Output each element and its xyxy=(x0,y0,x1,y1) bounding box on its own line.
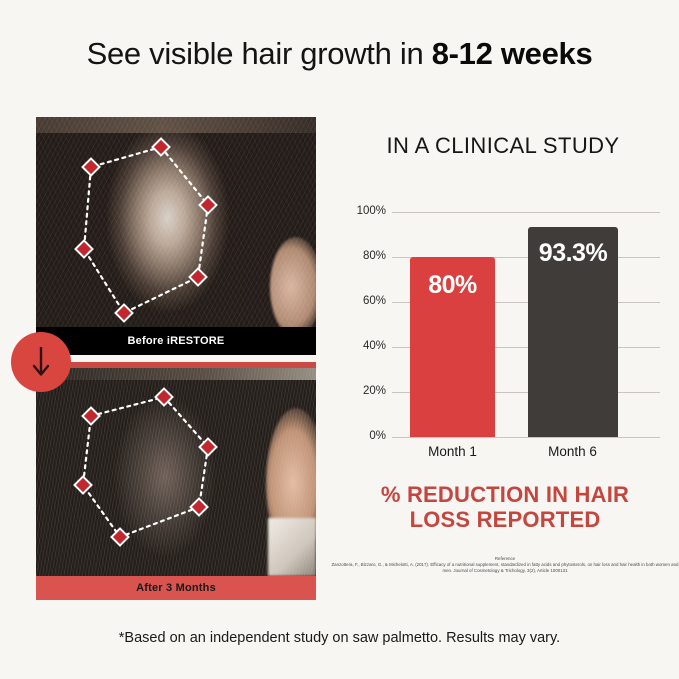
x-axis-label-month-6: Month 6 xyxy=(520,444,625,459)
page-title: See visible hair growth in 8-12 weeks xyxy=(0,36,679,72)
down-arrow-icon xyxy=(31,345,51,379)
after-photo-card: After 3 Months xyxy=(36,362,316,600)
y-axis-tick-100%: 100% xyxy=(348,205,386,217)
reduction-line-1: % REDUCTION IN HAIR xyxy=(381,482,629,507)
headline-accent: 8-12 weeks xyxy=(432,36,593,71)
y-axis-tick-40%: 40% xyxy=(348,340,386,352)
reference-citation: Reference Zanzottera, F., Bizzaro, G., &… xyxy=(330,556,679,575)
down-arrow-badge xyxy=(11,332,71,392)
y-axis-tick-20%: 20% xyxy=(348,385,386,397)
after-photo-caption: After 3 Months xyxy=(36,576,316,600)
y-axis-tick-60%: 60% xyxy=(348,295,386,307)
bar-value-month-1: 80% xyxy=(410,271,495,300)
clinical-study-title: IN A CLINICAL STUDY xyxy=(348,133,658,159)
scalp-after-photo xyxy=(36,368,316,576)
clinical-results-bar-chart: 0%20%40%60%80%100% 80% 93.3% Month 1 Mon… xyxy=(348,200,660,468)
gridline-0% xyxy=(392,437,660,438)
gridline-100% xyxy=(392,212,660,213)
before-photo-card: Before iRESTORE xyxy=(36,117,316,355)
x-axis-label-month-1: Month 1 xyxy=(400,444,505,459)
bar-value-month-6: 93.3% xyxy=(528,239,618,268)
before-after-photos: Before iRESTORE After 3 xyxy=(36,117,316,600)
reduction-line-2: LOSS REPORTED xyxy=(410,507,601,532)
bar-month-1: 80% xyxy=(410,257,495,437)
before-photo-caption: Before iRESTORE xyxy=(36,327,316,355)
y-axis-tick-0%: 0% xyxy=(348,430,386,442)
footnote-disclaimer: *Based on an independent study on saw pa… xyxy=(0,630,679,646)
headline-lead: See visible hair growth in xyxy=(87,36,432,71)
y-axis-tick-80%: 80% xyxy=(348,250,386,262)
scalp-before-photo xyxy=(36,117,316,327)
reduction-headline: % REDUCTION IN HAIR LOSS REPORTED xyxy=(340,482,670,532)
reference-line-1: Zanzottera, F., Bizzaro, G., & Michelott… xyxy=(332,562,561,567)
bar-month-6: 93.3% xyxy=(528,227,618,437)
promo-graphic: See visible hair growth in 8-12 weeks xyxy=(0,0,679,679)
